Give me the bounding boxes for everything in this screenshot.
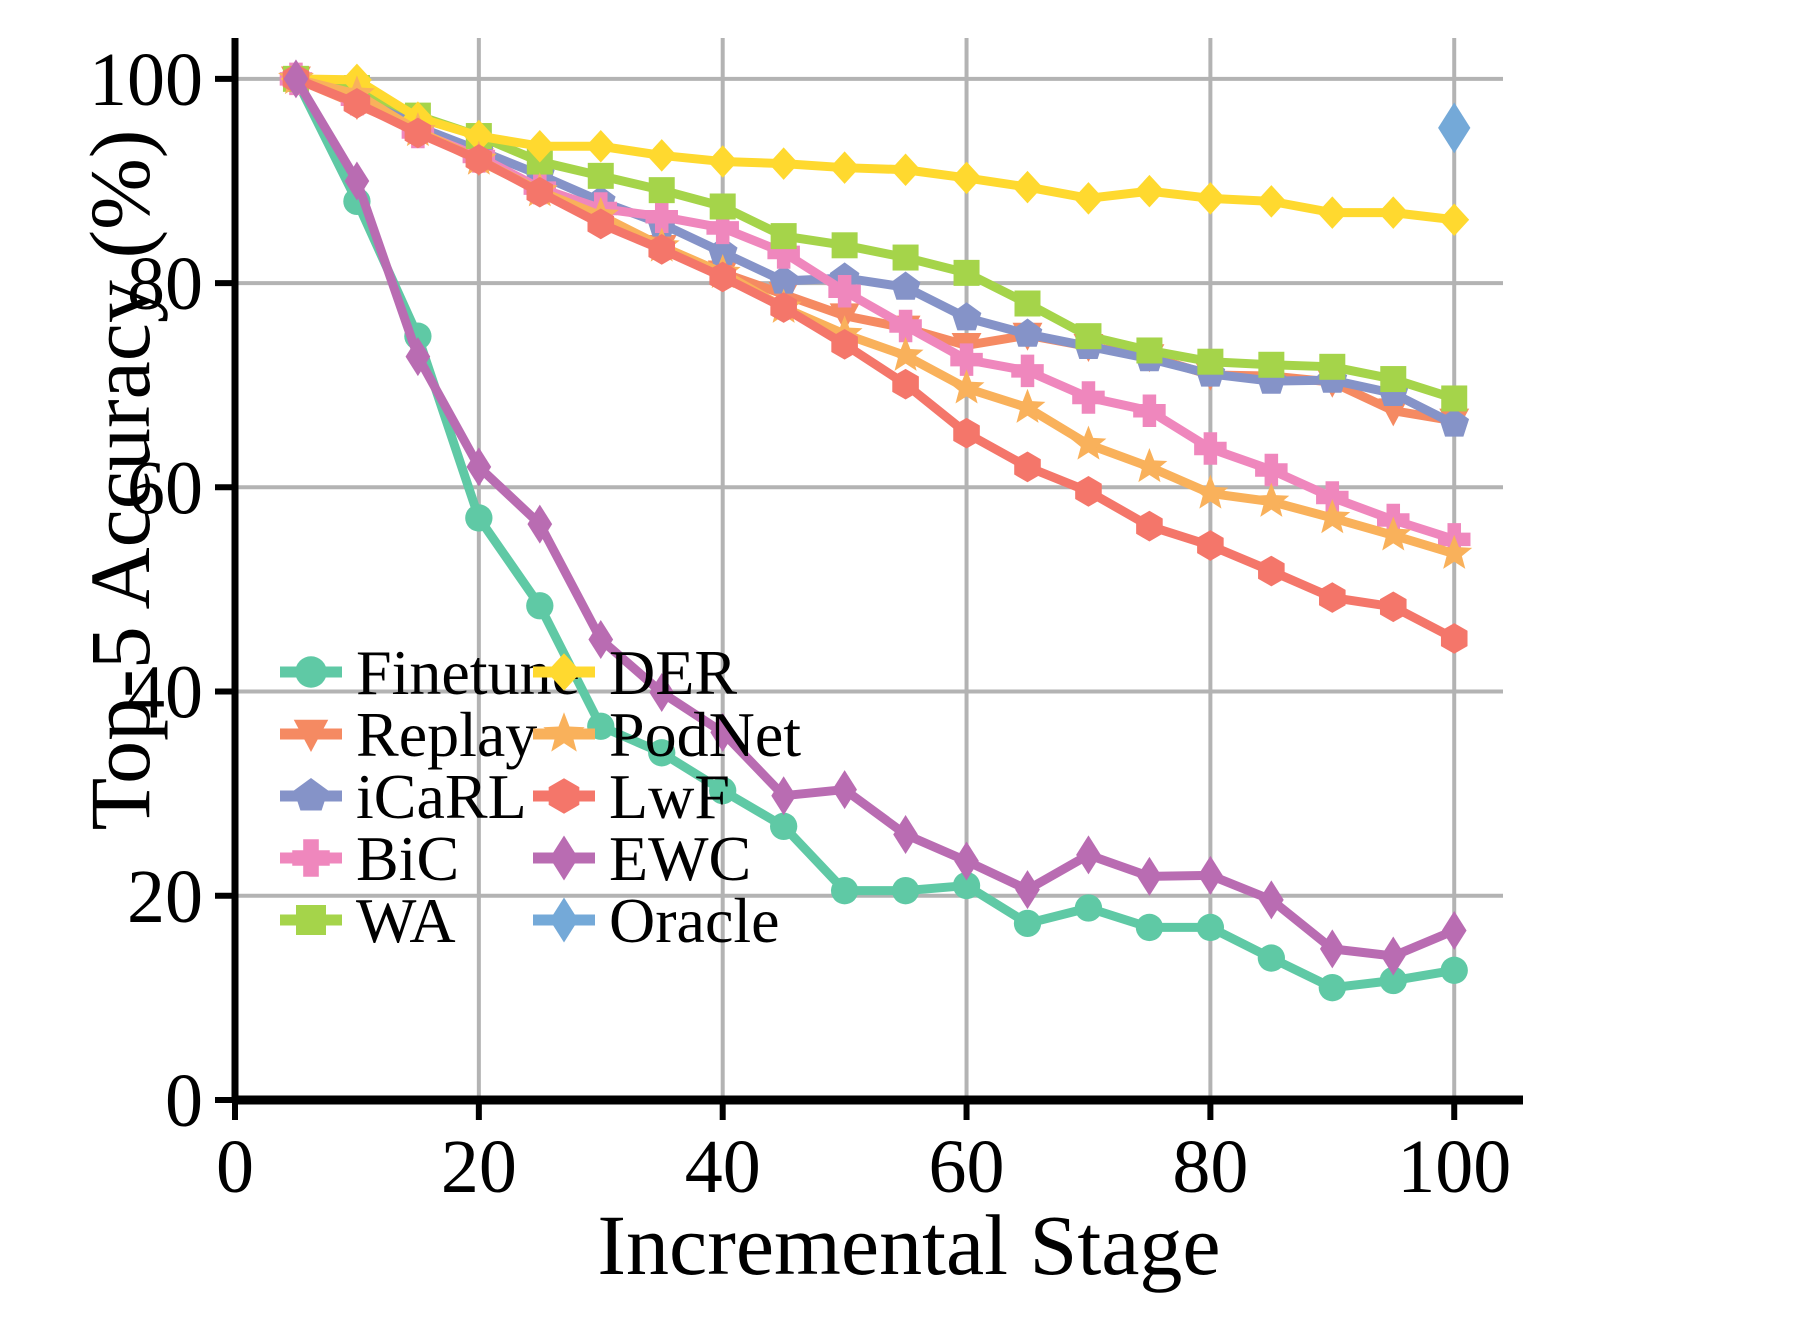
legend-label: EWC: [609, 823, 751, 894]
marker-square: [954, 260, 980, 286]
marker-thin-diamond: [1015, 870, 1040, 909]
marker-square: [710, 193, 736, 219]
marker-diamond: [1378, 196, 1408, 229]
marker-square: [649, 177, 675, 203]
marker-diamond: [1439, 204, 1469, 237]
marker-diamond: [708, 145, 738, 178]
series-line: [296, 79, 1454, 988]
marker-circle: [1136, 914, 1163, 941]
legend-item-replay[interactable]: Replay: [280, 699, 537, 770]
marker-plus: [1255, 454, 1288, 487]
chart-svg: 020406080100020406080100FinetuneDERRepla…: [0, 0, 1818, 1335]
legend-item-ewc[interactable]: EWC: [533, 823, 751, 894]
marker-hexagon: [1075, 476, 1102, 507]
marker-star: [543, 712, 584, 751]
marker-square: [1441, 385, 1467, 411]
marker-thin-diamond: [1381, 937, 1406, 976]
marker-circle: [465, 504, 492, 531]
marker-diamond: [1013, 171, 1043, 204]
marker-circle: [770, 813, 797, 840]
legend-label: DER: [609, 637, 737, 708]
plot-area: 020406080100020406080100FinetuneDERRepla…: [0, 0, 1818, 1335]
marker-circle: [892, 877, 919, 904]
marker-circle: [1258, 944, 1285, 971]
marker-square: [296, 905, 326, 935]
marker-thin-diamond: [893, 815, 918, 854]
marker-diamond: [647, 139, 677, 172]
marker-circle: [295, 656, 327, 688]
marker-diamond: [769, 147, 799, 180]
legend-label: iCaRL: [356, 761, 527, 832]
figure: 020406080100020406080100FinetuneDERRepla…: [0, 0, 1818, 1335]
marker-diamond: [1317, 196, 1347, 229]
marker-circle: [526, 592, 553, 619]
marker-thin-diamond: [1320, 929, 1345, 968]
marker-square: [832, 232, 858, 258]
marker-diamond: [1134, 175, 1164, 208]
marker-square: [1075, 323, 1101, 349]
marker-hexagon: [1136, 511, 1163, 542]
series-ewc: [284, 59, 1467, 975]
marker-diamond: [952, 162, 982, 195]
marker-square: [1015, 291, 1041, 317]
marker-plus: [1072, 381, 1105, 414]
marker-square: [1319, 354, 1345, 380]
marker-circle: [1075, 894, 1102, 921]
marker-thin-diamond: [1438, 102, 1470, 153]
legend-item-bic[interactable]: BiC: [280, 823, 459, 894]
marker-thin-diamond: [1259, 880, 1284, 919]
marker-square: [1380, 366, 1406, 392]
marker-hexagon: [1319, 582, 1346, 613]
marker-diamond: [1074, 182, 1104, 215]
marker-hexagon: [1197, 530, 1224, 561]
marker-circle: [1197, 914, 1224, 941]
marker-square: [893, 245, 919, 271]
y-axis-title: Top-5 Accuracy (%): [70, 30, 170, 930]
marker-hexagon: [1014, 452, 1041, 483]
legend-label: WA: [356, 885, 456, 956]
legend-item-podnet[interactable]: PodNet: [533, 699, 801, 770]
legend: FinetuneDERReplayPodNetiCaRLLwFBiCEWCWAO…: [280, 637, 801, 956]
marker-thin-diamond: [1137, 857, 1162, 896]
marker-thin-diamond: [832, 770, 857, 809]
marker-square: [1136, 337, 1162, 363]
x-axis-title: Incremental Stage: [0, 1195, 1818, 1295]
marker-circle: [831, 877, 858, 904]
legend-label: BiC: [356, 823, 459, 894]
marker-thin-diamond: [1198, 856, 1223, 895]
marker-plus: [292, 839, 330, 877]
marker-circle: [1319, 974, 1346, 1001]
legend-label: PodNet: [609, 699, 801, 770]
legend-label: Replay: [356, 699, 537, 770]
marker-circle: [1014, 910, 1041, 937]
marker-diamond: [830, 151, 860, 184]
legend-item-icarl[interactable]: iCaRL: [280, 761, 527, 832]
marker-thin-diamond: [1442, 911, 1467, 950]
marker-thin-diamond: [954, 842, 979, 881]
marker-diamond: [1195, 182, 1225, 215]
marker-square: [1258, 352, 1284, 378]
marker-thin-diamond: [550, 836, 579, 881]
marker-thin-diamond: [550, 898, 579, 943]
legend-item-lwf[interactable]: LwF: [533, 761, 730, 832]
marker-plus: [1011, 355, 1044, 388]
marker-square: [771, 223, 797, 249]
series-podnet: [278, 60, 1472, 569]
marker-pentagon: [891, 272, 921, 300]
marker-diamond: [1256, 185, 1286, 218]
legend-label: Oracle: [609, 885, 780, 956]
series-oracle: [1438, 102, 1470, 153]
marker-diamond: [586, 130, 616, 163]
marker-pentagon: [294, 778, 328, 811]
marker-hexagon: [1258, 556, 1285, 587]
marker-circle: [1441, 957, 1468, 984]
marker-square: [588, 163, 614, 189]
marker-thin-diamond: [1076, 835, 1101, 874]
legend-label: LwF: [609, 761, 730, 832]
marker-star: [1071, 426, 1107, 460]
marker-pentagon: [1013, 319, 1043, 347]
series-lwf: [283, 64, 1468, 654]
marker-hexagon: [549, 778, 580, 813]
y-tick-label: 0: [165, 1059, 203, 1143]
series-bic: [280, 63, 1471, 556]
marker-pentagon: [952, 302, 982, 330]
marker-hexagon: [1380, 591, 1407, 622]
marker-diamond: [891, 153, 921, 186]
marker-hexagon: [1441, 623, 1468, 654]
marker-square: [1197, 349, 1223, 375]
